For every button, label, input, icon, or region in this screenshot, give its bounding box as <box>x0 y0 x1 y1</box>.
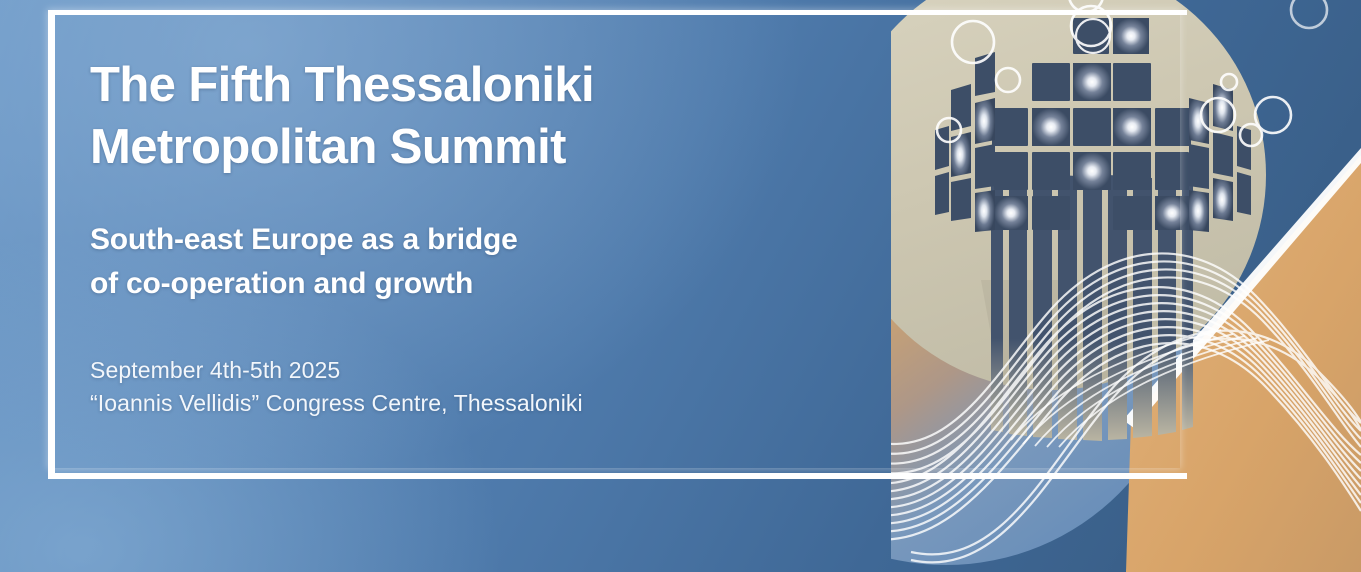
banner-text-block: The Fifth Thessaloniki Metropolitan Summ… <box>90 54 790 420</box>
subtitle-line-1: South-east Europe as a bridge <box>90 223 518 256</box>
subtitle: South-east Europe as a bridge of co-oper… <box>90 218 790 306</box>
title-line-1: The Fifth Thessaloniki <box>90 58 594 112</box>
event-details: September 4th-5th 2025 “Ioannis Vellidis… <box>90 354 790 420</box>
event-venue: “Ioannis Vellidis” Congress Centre, Thes… <box>90 387 790 420</box>
page-title: The Fifth Thessaloniki Metropolitan Summ… <box>90 54 790 178</box>
conference-banner: The Fifth Thessaloniki Metropolitan Summ… <box>0 0 1361 572</box>
subtitle-line-2: of co-operation and growth <box>90 262 790 306</box>
tower-artwork <box>891 0 1361 572</box>
title-line-2: Metropolitan Summit <box>90 116 790 178</box>
event-date: September 4th-5th 2025 <box>90 357 340 383</box>
tower-facade-bottom-row <box>1032 196 1151 230</box>
